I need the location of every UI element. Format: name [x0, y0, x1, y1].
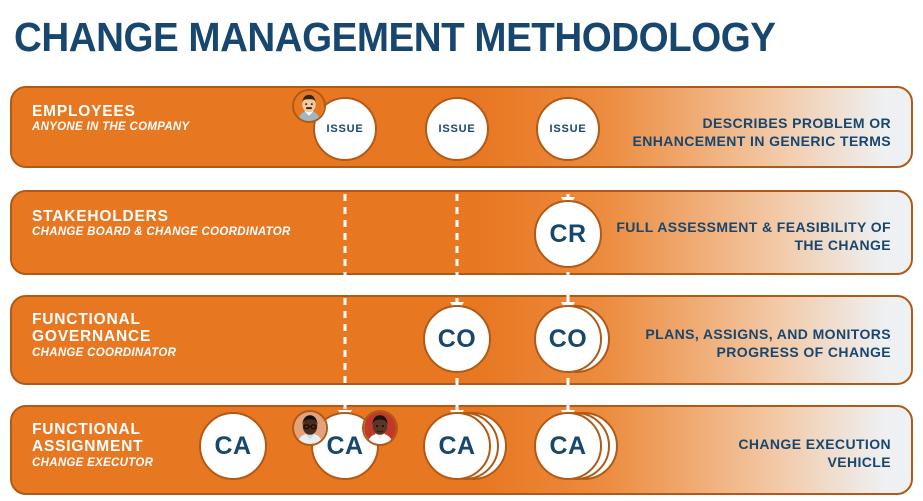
row-functional-assignment-title: FUNCTIONAL ASSIGNMENT: [32, 421, 153, 456]
row-functional-assignment-subtitle: CHANGE EXECUTOR: [32, 457, 153, 469]
row-stakeholders: STAKEHOLDERS CHANGE BOARD & CHANGE COORD…: [10, 190, 913, 275]
issue-node-2[interactable]: ISSUE: [425, 97, 489, 161]
page-title: CHANGE MANAGEMENT METHODOLOGY: [14, 14, 775, 61]
cr-node[interactable]: CR: [534, 200, 602, 268]
issue-node-1-label: ISSUE: [326, 123, 363, 135]
ca-node-3-label: CA: [438, 432, 475, 461]
co-node-1[interactable]: CO: [423, 305, 491, 373]
co-node-2[interactable]: CO: [534, 305, 602, 373]
ca-node-1-label: CA: [214, 432, 251, 461]
row-functional-assignment-label: FUNCTIONAL ASSIGNMENT CHANGE EXECUTOR: [32, 421, 153, 469]
employee-avatar-icon: [292, 89, 326, 123]
row-functional-governance-description: PLANS, ASSIGNS, AND MONITORS PROGRESS OF…: [571, 325, 891, 362]
ca-node-1[interactable]: CA: [199, 412, 267, 480]
ca-node-4-label: CA: [549, 432, 586, 461]
issue-node-2-label: ISSUE: [438, 123, 475, 135]
row-employees-label: EMPLOYEES ANYONE IN THE COMPANY: [32, 103, 190, 133]
executor-avatar-1-icon: [292, 410, 328, 446]
co-node-2-label: CO: [549, 325, 588, 354]
row-employees-description: DESCRIBES PROBLEM OR ENHANCEMENT IN GENE…: [561, 114, 891, 151]
row-employees-title: EMPLOYEES: [32, 103, 190, 120]
employee-avatar-svg: [294, 91, 324, 121]
ca-node-3[interactable]: CA: [423, 412, 491, 480]
issue-node-3[interactable]: ISSUE: [536, 97, 600, 161]
infographic-canvas: CHANGE MANAGEMENT METHODOLOGY EMPLOYEES …: [0, 0, 923, 501]
row-functional-governance-label: FUNCTIONAL GOVERNANCE CHANGE COORDINATOR: [32, 311, 176, 359]
ca-node-2-label: CA: [326, 432, 363, 461]
row-stakeholders-title: STAKEHOLDERS: [32, 208, 291, 225]
row-functional-assignment-description: CHANGE EXECUTION VEHICLE: [591, 435, 891, 472]
row-stakeholders-description: FULL ASSESSMENT & FEASIBILITY OF THE CHA…: [571, 218, 891, 255]
row-employees-subtitle: ANYONE IN THE COMPANY: [32, 121, 190, 133]
row-functional-governance-title: FUNCTIONAL GOVERNANCE: [32, 311, 176, 346]
issue-node-3-label: ISSUE: [549, 123, 586, 135]
co-node-1-label: CO: [438, 325, 477, 354]
row-stakeholders-subtitle: CHANGE BOARD & CHANGE COORDINATOR: [32, 226, 291, 238]
executor-avatar-1-svg: [294, 412, 326, 444]
executor-avatar-2-icon: [362, 410, 398, 446]
cr-node-label: CR: [549, 220, 586, 249]
ca-node-4[interactable]: CA: [534, 412, 602, 480]
row-functional-governance-subtitle: CHANGE COORDINATOR: [32, 347, 176, 359]
executor-avatar-2-svg: [364, 412, 396, 444]
row-stakeholders-label: STAKEHOLDERS CHANGE BOARD & CHANGE COORD…: [32, 208, 291, 238]
